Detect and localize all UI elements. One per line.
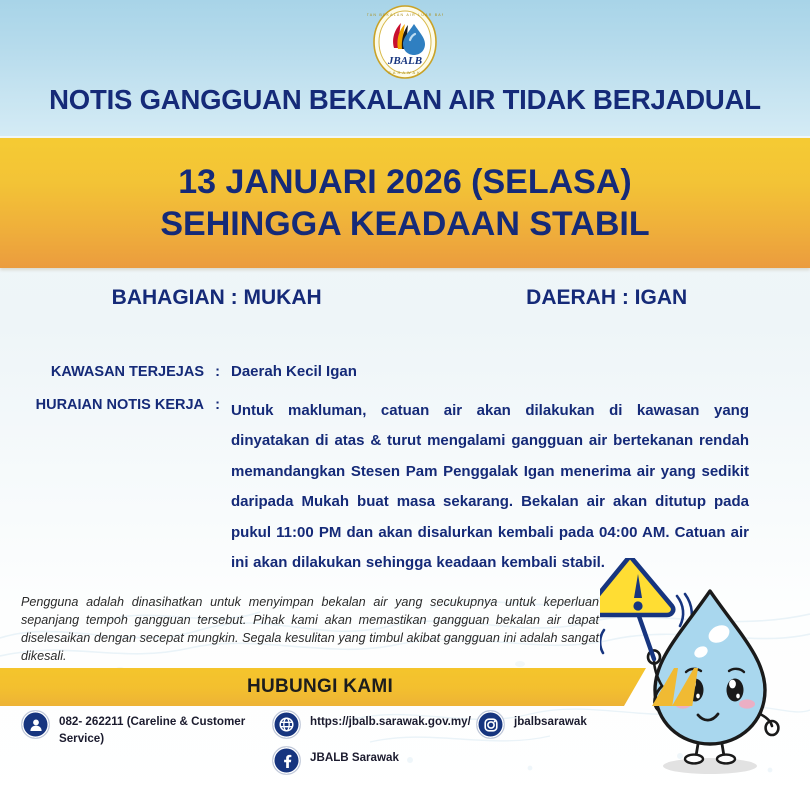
- disclaimer-text: Pengguna adalah dinasihatkan untuk menyi…: [21, 594, 599, 666]
- date-line-2: SEHINGGA KEADAAN STABIL: [160, 203, 649, 246]
- contact-facebook[interactable]: JBALB Sarawak: [272, 746, 522, 775]
- region-row: BAHAGIAN : MUKAH DAERAH : IGAN: [0, 286, 810, 310]
- svg-text:SARAWAK: SARAWAK: [388, 70, 422, 75]
- instagram-icon: [476, 710, 505, 739]
- poster-header: JBALB JABATAN BEKALAN AIR LUAR BANDAR SA…: [0, 0, 810, 136]
- svg-text:JABATAN BEKALAN AIR LUAR BANDA: JABATAN BEKALAN AIR LUAR BANDAR: [367, 13, 443, 17]
- huraian-notis-kerja-colon: :: [204, 396, 231, 413]
- notice-poster: JBALB JABATAN BEKALAN AIR LUAR BANDAR SA…: [0, 0, 810, 810]
- kawasan-terjejas-colon: :: [204, 363, 231, 380]
- globe-icon: [272, 710, 301, 739]
- kawasan-terjejas-row: KAWASAN TERJEJAS : Daerah Kecil Igan: [0, 363, 810, 380]
- bahagian-label: BAHAGIAN : MUKAH: [0, 286, 433, 310]
- huraian-notis-kerja-row: HURAIAN NOTIS KERJA : Untuk makluman, ca…: [0, 396, 810, 579]
- kawasan-terjejas-label: KAWASAN TERJEJAS: [0, 363, 204, 380]
- contact-instagram-text: jbalbsarawak: [514, 710, 587, 731]
- contact-list: 082- 262211 (Careline & Customer Service…: [0, 708, 810, 784]
- date-line-1: 13 JANUARI 2026 (SELASA): [178, 161, 631, 204]
- page-title: NOTIS GANGGUAN BEKALAN AIR TIDAK BERJADU…: [0, 84, 810, 116]
- contact-instagram[interactable]: jbalbsarawak: [476, 710, 676, 739]
- contact-phone-text: 082- 262211 (Careline & Customer Service…: [59, 710, 253, 748]
- huraian-notis-kerja-value: Untuk makluman, catuan air akan dilakuka…: [231, 396, 749, 579]
- facebook-icon: [272, 746, 301, 775]
- contact-website-text: https://jbalb.sarawak.gov.my/: [310, 710, 471, 731]
- kawasan-terjejas-value: Daerah Kecil Igan: [231, 363, 357, 380]
- contact-phone[interactable]: 082- 262211 (Careline & Customer Service…: [21, 710, 253, 748]
- warning-triangle-sign: [600, 558, 673, 615]
- logo-wordmark: JBALB: [387, 55, 422, 67]
- date-banner: 13 JANUARI 2026 (SELASA) SEHINGGA KEADAA…: [0, 138, 810, 268]
- hubungi-kami-label: HUBUNGI KAMI: [0, 668, 640, 706]
- daerah-label: DAERAH : IGAN: [433, 286, 810, 310]
- jbalb-logo: JBALB JABATAN BEKALAN AIR LUAR BANDAR SA…: [367, 4, 443, 80]
- contact-facebook-text: JBALB Sarawak: [310, 746, 399, 767]
- huraian-notis-kerja-label: HURAIAN NOTIS KERJA: [0, 396, 204, 413]
- person-icon: [21, 710, 50, 739]
